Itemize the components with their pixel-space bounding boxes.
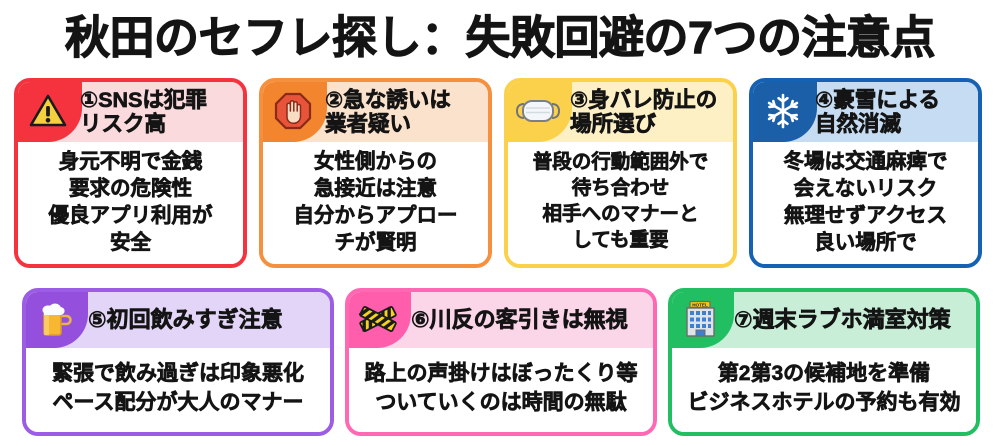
card-6-icon-badge <box>347 290 411 348</box>
svg-text:HOTEL: HOTEL <box>692 302 708 307</box>
face-mask-icon <box>516 95 560 127</box>
card-4-title: ④豪雪による 自然消滅 <box>815 88 944 136</box>
card-6: ⑥川反の客引きは無視 路上の声掛けはぼったくり等 ついていくのは時間の無駄 <box>345 288 657 436</box>
card-1-body: 身元不明で金銭 要求の危険性 優良アプリ利用が 安全 <box>18 142 243 264</box>
card-4-body: 冬場は交通麻痺で 会えないリスク 無理せずアクセス 良い場所で <box>753 142 978 264</box>
card-2: ②急な誘いは 業者疑い 女性側からの 急接近は注意 自分からアプロー チが賢明 <box>259 78 492 268</box>
card-2-header: ②急な誘いは 業者疑い <box>263 82 488 142</box>
card-1-header: ①SNSは犯罪 リスク高 <box>18 82 243 142</box>
card-7-body: 第2第3の候補地を準備 ビジネスホテルの予約も有効 <box>672 348 976 432</box>
card-2-title: ②急な誘いは 業者疑い <box>325 88 455 136</box>
beer-mug-icon <box>37 300 73 338</box>
card-7-header: HOTEL <box>672 292 976 348</box>
card-5-icon-badge <box>24 290 88 348</box>
card-6-body: 路上の声掛けはぼったくり等 ついていくのは時間の無駄 <box>349 348 653 432</box>
card-2-icon-badge <box>261 80 327 142</box>
card-4: ④豪雪による 自然消滅 冬場は交通麻痺で 会えないリスク 無理せずアクセス 良い… <box>749 78 982 268</box>
stop-hand-icon <box>274 92 312 130</box>
card-4-icon-badge <box>751 80 817 142</box>
infographic-page: 秋田のセフレ探し：失敗回避の7つの注意点 ①SNSは犯罪 リスク高 身元不明で金… <box>0 0 1000 446</box>
card-7-title: ⑦週末ラブホ満室対策 <box>734 308 951 333</box>
card-5-title: ⑤初回飲みすぎ注意 <box>88 308 283 333</box>
card-5-body: 緊張で飲み過ぎは印象悪化 ペース配分が大人のマナー <box>26 348 330 432</box>
warning-triangle-icon <box>29 93 67 129</box>
card-3: ③身バレ防止の 場所選び 普段の行動範囲外で 待ち合わせ 相手へのマナーと して… <box>504 78 737 268</box>
hotel-building-icon: HOTEL <box>681 299 721 339</box>
card-5: ⑤初回飲みすぎ注意 緊張で飲み過ぎは印象悪化 ペース配分が大人のマナー <box>22 288 334 436</box>
card-7: HOTEL <box>668 288 980 436</box>
card-6-header: ⑥川反の客引きは無視 <box>349 292 653 348</box>
card-4-header: ④豪雪による 自然消滅 <box>753 82 978 142</box>
construction-barrier-icon <box>358 301 398 337</box>
card-2-body: 女性側からの 急接近は注意 自分からアプロー チが賢明 <box>263 142 488 264</box>
card-6-title: ⑥川反の客引きは無視 <box>411 308 628 333</box>
card-3-icon-badge <box>506 80 572 142</box>
page-title: 秋田のセフレ探し：失敗回避の7つの注意点 <box>0 2 1000 64</box>
card-7-icon-badge: HOTEL <box>670 290 734 348</box>
card-1-title: ①SNSは犯罪 リスク高 <box>80 88 211 136</box>
snowflake-icon <box>764 92 802 130</box>
card-1: ①SNSは犯罪 リスク高 身元不明で金銭 要求の危険性 優良アプリ利用が 安全 <box>14 78 247 268</box>
card-3-body: 普段の行動範囲外で 待ち合わせ 相手へのマナーと しても重要 <box>508 142 733 264</box>
card-5-header: ⑤初回飲みすぎ注意 <box>26 292 330 348</box>
card-1-icon-badge <box>16 80 82 142</box>
card-3-header: ③身バレ防止の 場所選び <box>508 82 733 142</box>
card-3-title: ③身バレ防止の 場所選び <box>570 88 721 136</box>
